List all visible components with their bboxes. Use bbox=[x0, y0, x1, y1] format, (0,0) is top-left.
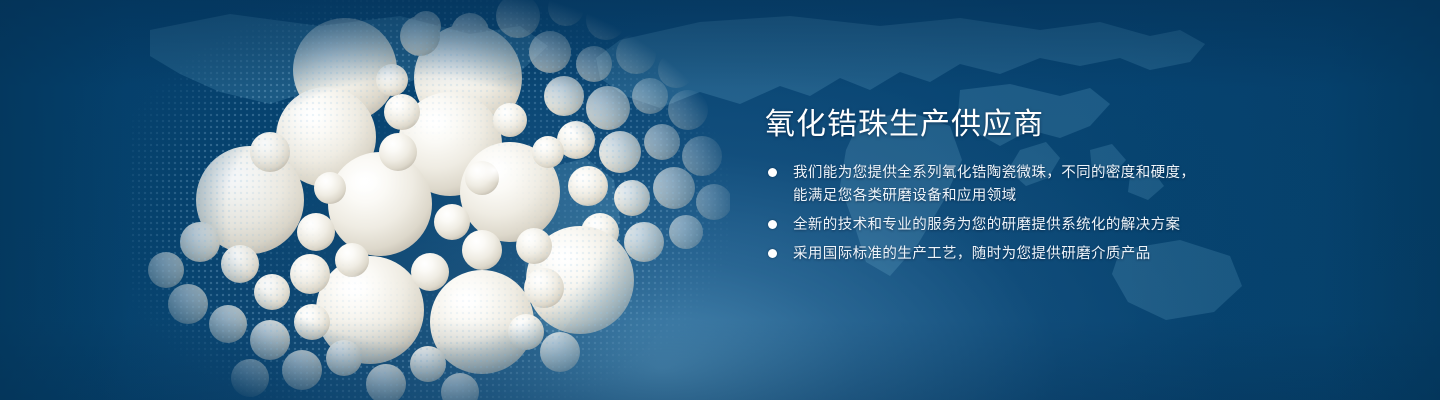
feature-bullet-line: 采用国际标准的生产工艺，随时为您提供研磨介质产品 bbox=[793, 243, 1385, 266]
feature-bullet-text: 采用国际标准的生产工艺，随时为您提供研磨介质产品 bbox=[793, 243, 1385, 266]
feature-bullet-line: 能满足您各类研磨设备和应用领域 bbox=[793, 185, 1385, 208]
banner-content: 氧化锆珠生产供应商 我们能为您提供全系列氧化锆陶瓷微珠，不同的密度和硬度， 能满… bbox=[765, 106, 1385, 272]
feature-bullet-item: 采用国际标准的生产工艺，随时为您提供研磨介质产品 bbox=[765, 243, 1385, 266]
feature-bullet-line: 我们能为您提供全系列氧化锆陶瓷微珠，不同的密度和硬度， bbox=[793, 162, 1385, 185]
feature-bullet-item: 我们能为您提供全系列氧化锆陶瓷微珠，不同的密度和硬度， 能满足您各类研磨设备和应… bbox=[765, 162, 1385, 208]
feature-bullet-text: 全新的技术和专业的服务为您的研磨提供系统化的解决方案 bbox=[793, 214, 1385, 237]
feature-bullet-item: 全新的技术和专业的服务为您的研磨提供系统化的解决方案 bbox=[765, 214, 1385, 237]
hero-banner: 氧化锆珠生产供应商 我们能为您提供全系列氧化锆陶瓷微珠，不同的密度和硬度， 能满… bbox=[0, 0, 1440, 400]
bullet-dot-icon bbox=[768, 249, 777, 258]
feature-bullet-line: 全新的技术和专业的服务为您的研磨提供系统化的解决方案 bbox=[793, 214, 1385, 237]
banner-title: 氧化锆珠生产供应商 bbox=[765, 106, 1385, 144]
bullet-dot-icon bbox=[768, 168, 777, 177]
bullet-dot-icon bbox=[768, 220, 777, 229]
feature-bullet-list: 我们能为您提供全系列氧化锆陶瓷微珠，不同的密度和硬度， 能满足您各类研磨设备和应… bbox=[765, 162, 1385, 266]
feature-bullet-text: 我们能为您提供全系列氧化锆陶瓷微珠，不同的密度和硬度， 能满足您各类研磨设备和应… bbox=[793, 162, 1385, 208]
